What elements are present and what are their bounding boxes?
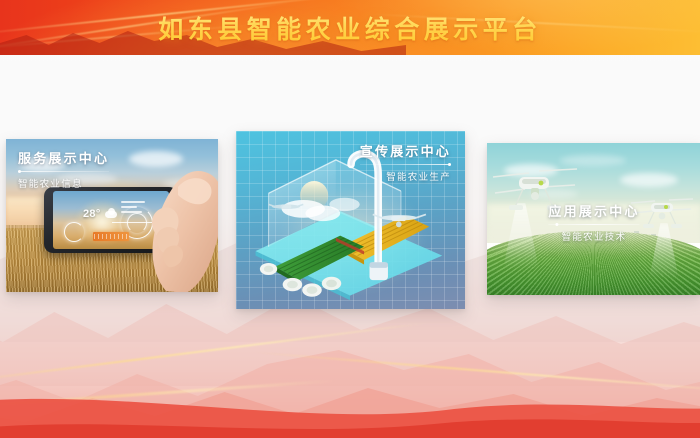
platform-screen: 如东县智能农业综合展示平台 [0,0,700,438]
card-service-title: 服务展示中心 [18,152,109,166]
card-application-image: 应用展示中心 智能农业技术 [487,143,700,295]
card-service-subtitle: 智能农业信息 [18,176,109,190]
card-service-image: 28° [6,139,218,292]
divider [548,224,639,225]
card-application-center[interactable]: 应用展示中心 智能农业技术 [487,143,700,295]
card-service-text: 服务展示中心 智能农业信息 [18,152,109,190]
page-title: 如东县智能农业综合展示平台 [0,0,700,55]
card-application-subtitle: 智能农业技术 [548,229,639,243]
card-promotion-text: 宣传展示中心 智能农业生产 [360,145,451,183]
hud-data-bar [121,206,137,208]
hud-ring-left-icon [64,222,84,242]
hud-temperature-readout: 28° [83,208,101,220]
card-promotion-title: 宣传展示中心 [360,145,451,159]
card-promotion-subtitle: 智能农业生产 [360,169,451,183]
weather-cloud-icon [105,211,117,218]
header-banner: 如东县智能农业综合展示平台 [0,0,700,55]
hand-holding-phone [138,165,218,292]
divider [18,171,109,172]
card-promotion-image: 宣传展示中心 智能农业生产 [236,131,465,309]
card-service-center[interactable]: 28° [6,139,218,292]
card-application-title: 应用展示中心 [548,205,639,219]
card-application-text: 应用展示中心 智能农业技术 [548,205,639,243]
card-promotion-center[interactable]: 宣传展示中心 智能农业生产 [236,131,465,309]
divider [360,164,451,165]
hud-progress-indicator [93,232,129,241]
